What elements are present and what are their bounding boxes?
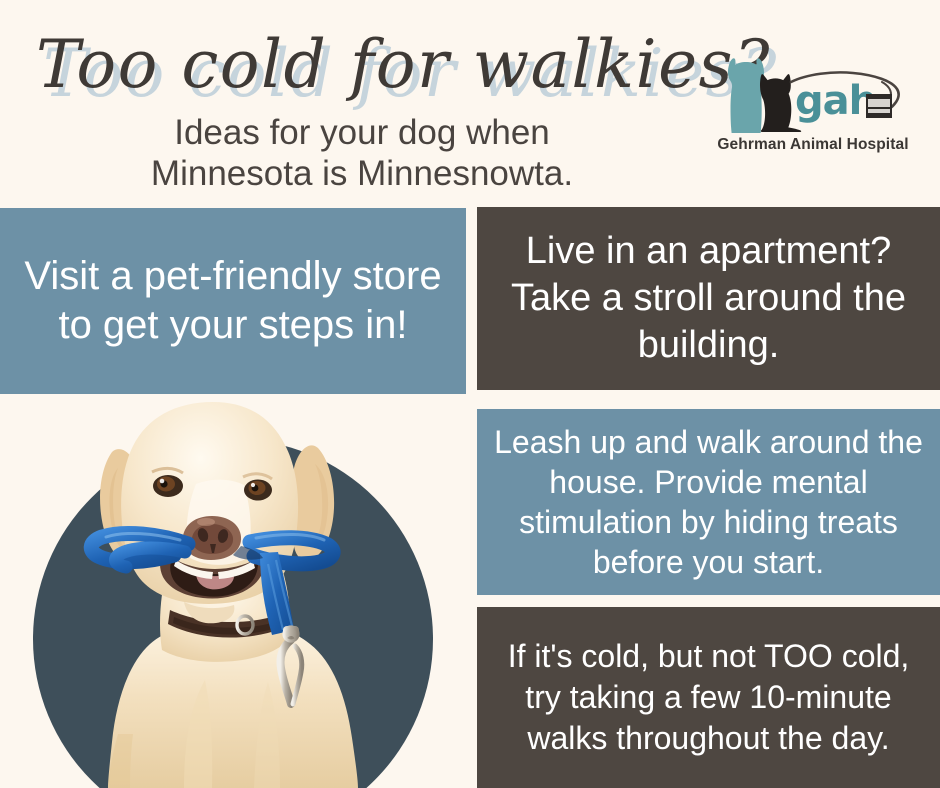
page-title: Too cold for walkies? <box>36 22 696 108</box>
logo-wordmark-text: gah <box>795 78 876 124</box>
dog-photo-block <box>0 394 466 788</box>
tip-text-leash: Leash up and walk around the house. Prov… <box>487 422 930 582</box>
subtitle-line-2: Minnesota is Minnesnowta. <box>52 153 672 194</box>
aaha-badge-icon <box>866 94 892 118</box>
subtitle: Ideas for your dog when Minnesota is Min… <box>52 112 672 194</box>
dog-photo-illustration <box>0 394 466 788</box>
tip-panel-ten-minute-walks: If it's cold, but not TOO cold, try taki… <box>477 607 940 788</box>
tip-panel-leash: Leash up and walk around the house. Prov… <box>477 409 940 595</box>
headline-block: Too cold for walkies? Too cold for walki… <box>36 22 696 110</box>
header: Too cold for walkies? Too cold for walki… <box>0 0 940 206</box>
tip-panel-store: Visit a pet-friendly store to get your s… <box>0 208 466 394</box>
logo: gah Gehrman Animal Hospital <box>705 52 921 164</box>
dog-silhouette-icon <box>728 58 764 133</box>
tip-text-apartment: Live in an apartment? Take a stroll arou… <box>491 228 926 369</box>
tip-text-store: Visit a pet-friendly store to get your s… <box>20 252 446 350</box>
infographic-poster: Too cold for walkies? Too cold for walki… <box>0 0 940 788</box>
subtitle-line-1: Ideas for your dog when <box>52 112 672 153</box>
tip-text-ten-minute-walks: If it's cold, but not TOO cold, try taki… <box>491 636 926 759</box>
tip-panel-apartment: Live in an apartment? Take a stroll arou… <box>477 207 940 390</box>
dog-head <box>100 402 334 623</box>
logo-mark: gah <box>705 52 921 136</box>
logo-hospital-name: Gehrman Animal Hospital <box>705 136 921 154</box>
